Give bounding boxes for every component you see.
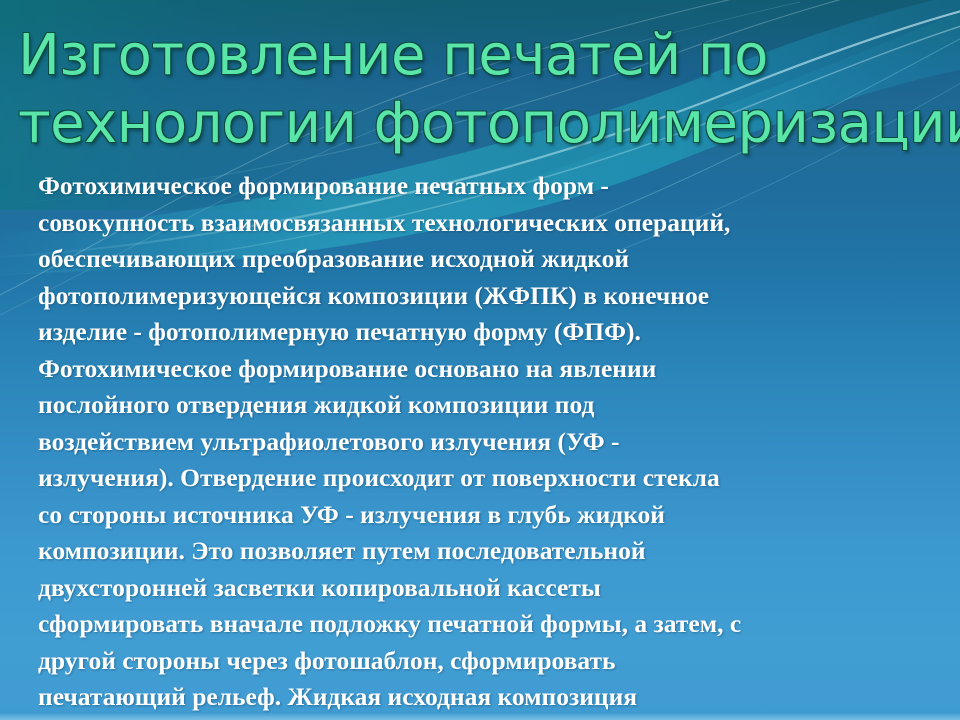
- body-line: фотополимеризующейся композиции (ЖФПК) в…: [38, 278, 918, 315]
- body-line: Фотохимическое формирование печатных фор…: [38, 168, 918, 205]
- body-line: двухсторонней засветки копировальной кас…: [38, 570, 918, 607]
- body-line: печатающий рельеф. Жидкая исходная компо…: [38, 679, 918, 716]
- body-line: обеспечивающих преобразование исходной ж…: [38, 241, 918, 278]
- body-line: воздействием ультрафиолетового излучения…: [38, 424, 918, 461]
- body-line: совокупность взаимосвязанных технологиче…: [38, 205, 918, 242]
- bottom-accent-strip: [0, 713, 960, 720]
- slide-body: Фотохимическое формирование печатных фор…: [38, 168, 918, 720]
- body-line: Фотохимическое формирование основано на …: [38, 351, 918, 388]
- title-line-1: Изготовление печатей по: [18, 22, 948, 90]
- presentation-slide: Изготовление печатей по технологии фотоп…: [0, 0, 960, 720]
- slide-title: Изготовление печатей по технологии фотоп…: [18, 22, 948, 158]
- body-line: сформировать вначале подложку печатной ф…: [38, 606, 918, 643]
- body-line: со стороны источника УФ - излучения в гл…: [38, 497, 918, 534]
- body-paragraph: Фотохимическое формирование печатных фор…: [38, 168, 918, 720]
- body-line: послойного отвердения жидкой композиции …: [38, 387, 918, 424]
- body-line: изделие - фотополимерную печатную форму …: [38, 314, 918, 351]
- body-line: излучения). Отвердение происходит от пов…: [38, 460, 918, 497]
- body-line: композиции. Это позволяет путем последов…: [38, 533, 918, 570]
- title-line-2: технологии фотополимеризации: [18, 90, 948, 158]
- body-line: другой стороны через фотошаблон, сформир…: [38, 643, 918, 680]
